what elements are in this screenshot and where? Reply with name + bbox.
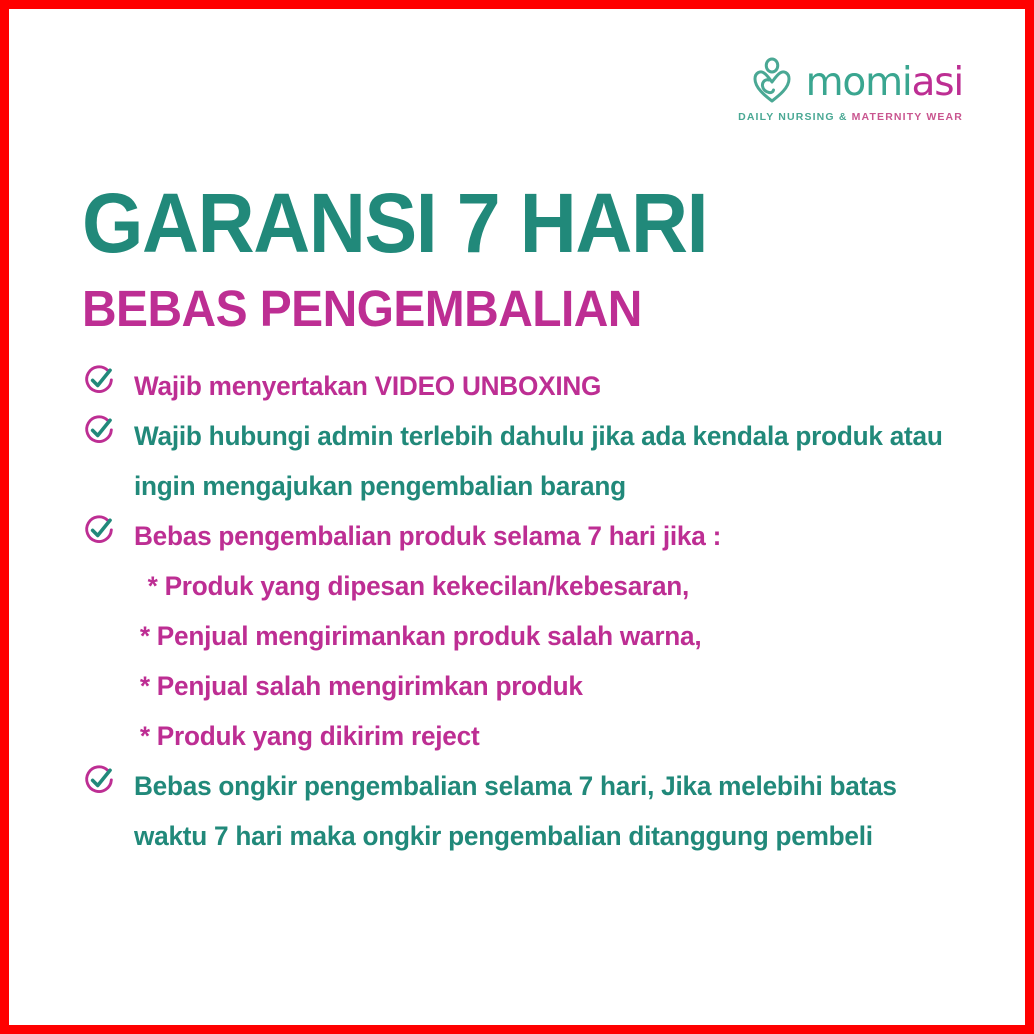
list-item: Bebas ongkir pengembalian selama 7 hari,… [82,761,972,861]
check-circle-icon [82,361,134,407]
sub-list-item-label: * Penjual mengirimankan produk salah war… [134,611,701,661]
logo-word-asi: asi [912,60,963,105]
brand-logo: momiasi DAILY NURSING & MATERNITY WEAR [738,57,963,123]
list-item-label: Wajib hubungi admin terlebih dahulu jika… [134,411,947,511]
list-item-label: Bebas ongkir pengembalian selama 7 hari,… [134,761,947,861]
sub-list-item: * Penjual mengirimankan produk salah war… [82,611,972,661]
poster-canvas: momiasi DAILY NURSING & MATERNITY WEAR G… [9,9,1025,1025]
list-item: Bebas pengembalian produk selama 7 hari … [82,511,972,561]
logo-tagline-nursing: DAILY NURSING [738,111,835,123]
sub-list-item: * Penjual salah mengirimkan produk [82,661,972,711]
poster-frame: momiasi DAILY NURSING & MATERNITY WEAR G… [0,0,1034,1034]
check-circle-icon [82,511,134,557]
page-title: GARANSI 7 HARI [82,187,707,261]
logo-row: momiasi [747,57,963,107]
logo-wordmark: momiasi [806,63,963,102]
policy-list: Wajib menyertakan VIDEO UNBOXING Wajib h… [82,361,972,861]
page-subtitle: BEBAS PENGEMBALIAN [82,286,642,332]
logo-tagline-amp: & [839,111,848,123]
list-item-label: Wajib menyertakan VIDEO UNBOXING [134,361,947,411]
logo-tagline: DAILY NURSING & MATERNITY WEAR [738,112,963,123]
list-item: Wajib hubungi admin terlebih dahulu jika… [82,411,972,511]
sub-list-item: * Produk yang dipesan kekecilan/kebesara… [82,561,972,611]
sub-list-item-label: * Produk yang dipesan kekecilan/kebesara… [134,561,689,611]
sub-list-item-label: * Produk yang dikirim reject [134,711,479,761]
sub-list-item: * Produk yang dikirim reject [82,711,972,761]
sub-list-item-label: * Penjual salah mengirimkan produk [134,661,583,711]
list-item: Wajib menyertakan VIDEO UNBOXING [82,361,972,411]
mother-and-baby-heart-icon [747,57,797,107]
list-item-label: Bebas pengembalian produk selama 7 hari … [134,511,947,561]
logo-word-momi: momi [806,60,912,105]
logo-tagline-maternity: MATERNITY WEAR [852,111,963,123]
check-circle-icon [82,411,134,457]
check-circle-icon [82,761,134,807]
